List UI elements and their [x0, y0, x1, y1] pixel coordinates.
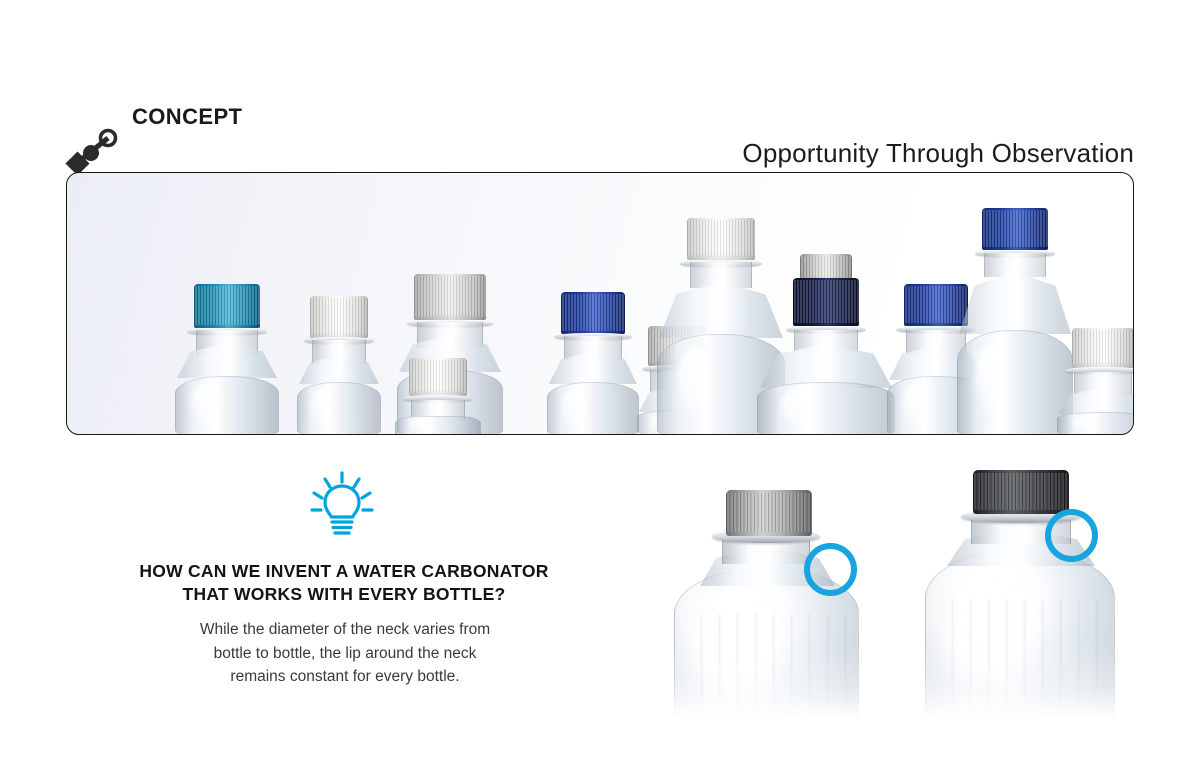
question-line-2: THAT WORKS WITH EVERY BOTTLE?	[66, 583, 622, 606]
bottle-white-4	[1057, 324, 1134, 434]
neck-lip-highlight-circle-right	[1045, 509, 1098, 562]
lightbulb-icon	[305, 470, 379, 540]
bottle-navy-sport	[757, 234, 895, 434]
bottle-white-2	[395, 356, 481, 434]
logo-line-1: CONCEPT	[132, 105, 242, 128]
slide-canvas: CONCEPT IDEATION Opportunity Through Obs…	[0, 0, 1200, 776]
key-question: HOW CAN WE INVENT A WATER CARBONATOR THA…	[66, 560, 622, 607]
bottle-teal	[175, 284, 279, 434]
body-line-2: bottle to bottle, the lip around the nec…	[110, 642, 580, 666]
bottle-detail-black-cap	[905, 452, 1155, 718]
bottle-blue-1	[547, 289, 639, 434]
bottle-blue-3	[957, 206, 1073, 434]
insight-body-text: While the diameter of the neck varies fr…	[110, 618, 580, 689]
bottle-lineup-banner	[66, 172, 1134, 435]
neck-lip-highlight-circle-left	[804, 543, 857, 596]
detail-left-image	[660, 468, 905, 718]
bottle-lineup-scene	[67, 173, 1133, 434]
detail-right-image	[905, 452, 1155, 718]
bottle-white-1	[297, 294, 381, 434]
section-title: Opportunity Through Observation	[742, 138, 1134, 169]
body-line-3: remains constant for every bottle.	[110, 665, 580, 689]
question-line-1: HOW CAN WE INVENT A WATER CARBONATOR	[66, 560, 622, 583]
concept-pin-icon	[64, 126, 120, 176]
body-line-1: While the diameter of the neck varies fr…	[110, 618, 580, 642]
bottle-detail-silver-cap	[660, 468, 905, 718]
